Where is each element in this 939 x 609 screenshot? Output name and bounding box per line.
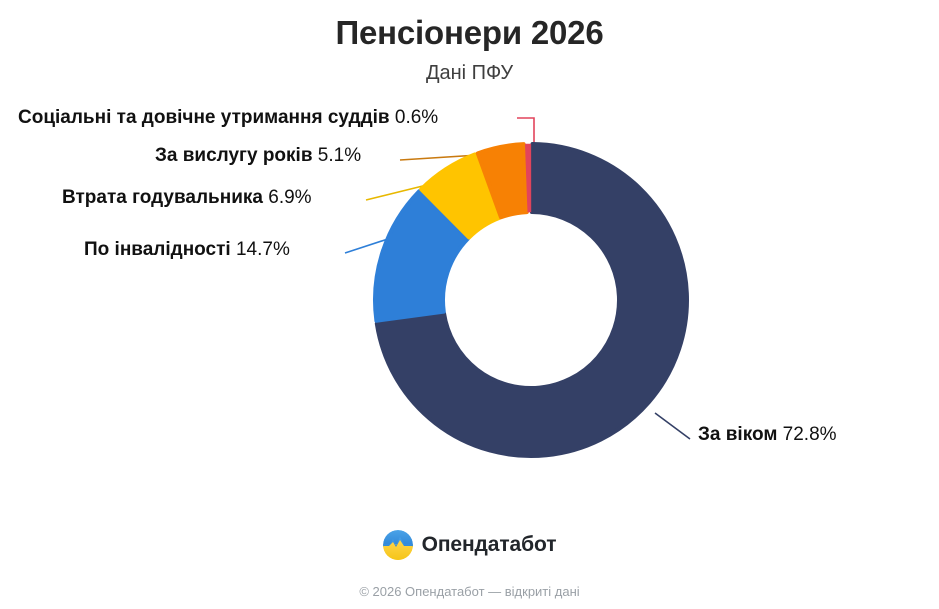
callout-age-percent: 72.8%	[783, 424, 837, 445]
callout-disability: По інвалідності 14.7%	[84, 240, 290, 259]
callout-service: За вислугу років 5.1%	[155, 146, 361, 165]
brand-name: Опендатабот	[422, 533, 557, 557]
callout-disability-percent: 14.7%	[236, 239, 290, 260]
callout-survivor: Втрата годувальника 6.9%	[62, 188, 312, 207]
callout-survivor-label: Втрата годувальника	[62, 187, 263, 208]
callout-social: Соціальні та довічне утримання суддів 0.…	[18, 108, 438, 127]
infographic-canvas: Пенсіонери 2026 Дані ПФУ Соціальні та до…	[0, 0, 939, 609]
callout-social-percent: 0.6%	[395, 107, 438, 128]
leader-line-age	[655, 413, 690, 439]
callout-service-percent: 5.1%	[318, 145, 361, 166]
opendatabot-circle-icon	[383, 530, 413, 560]
leader-line-social	[517, 118, 534, 146]
footer-copyright: © 2026 Опендатабот — відкриті дані	[0, 584, 939, 599]
donut-chart	[0, 0, 939, 609]
callout-age: За віком 72.8%	[698, 425, 837, 444]
brand-block: Опендатабот	[0, 530, 939, 560]
callout-service-label: За вислугу років	[155, 145, 313, 166]
callout-survivor-percent: 6.9%	[268, 187, 311, 208]
callout-age-label: За віком	[698, 424, 777, 445]
callout-social-label: Соціальні та довічне утримання суддів	[18, 107, 390, 128]
callout-disability-label: По інвалідності	[84, 239, 231, 260]
donut-slices	[375, 144, 687, 456]
